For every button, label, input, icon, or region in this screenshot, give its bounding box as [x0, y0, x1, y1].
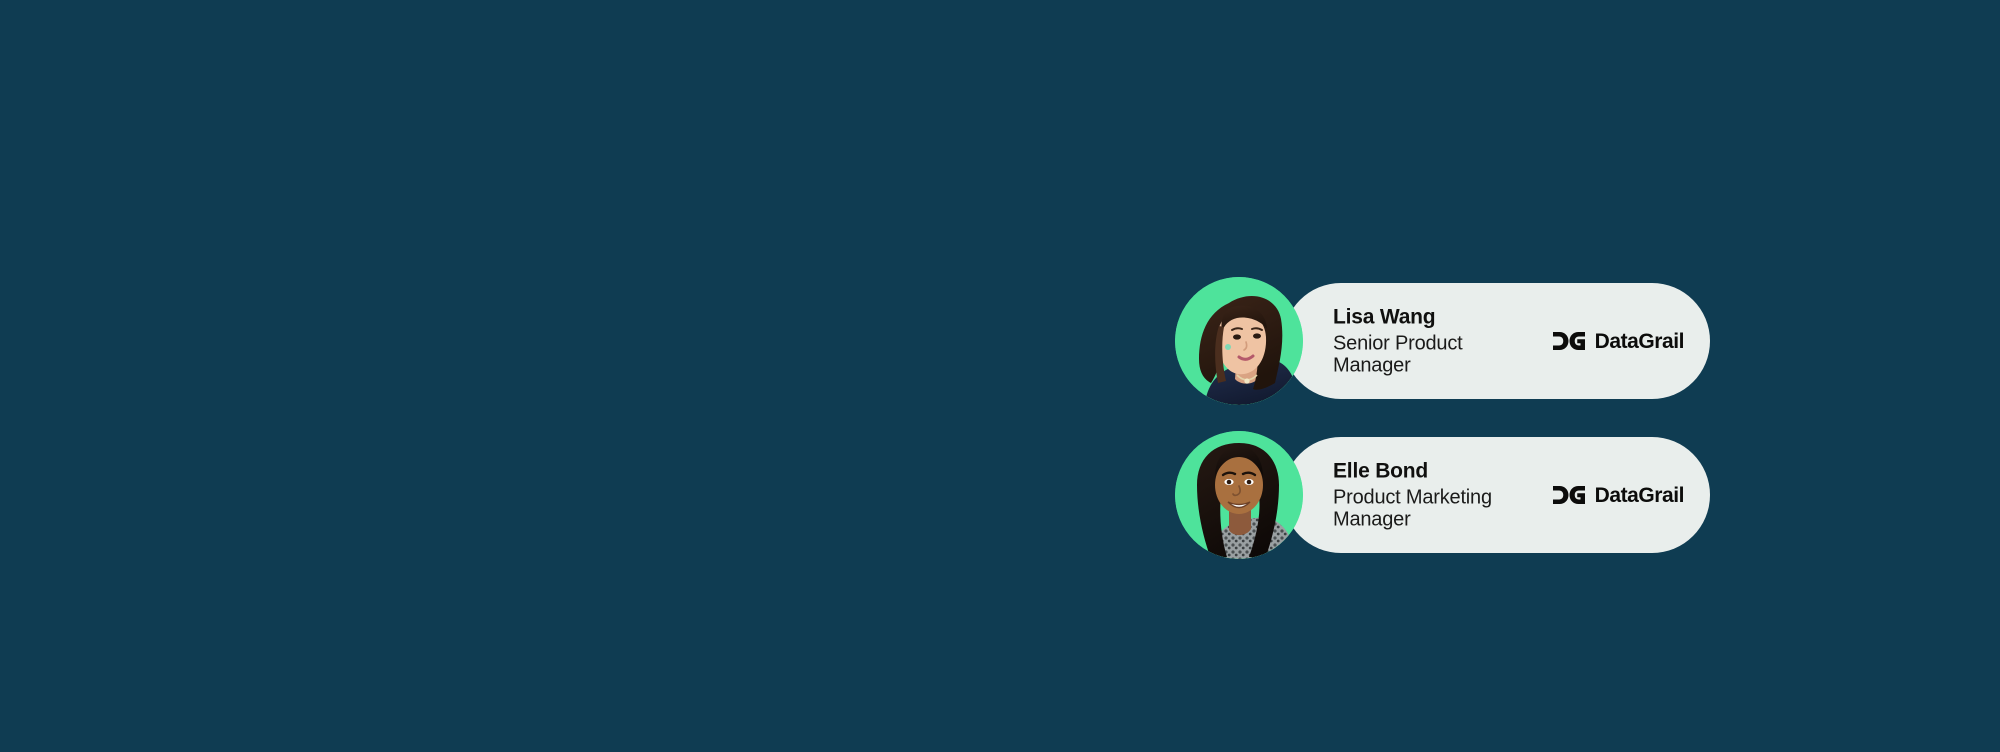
brand-logo: DataGrail [1552, 484, 1684, 506]
speaker-info: Lisa Wang Senior Product Manager [1333, 305, 1503, 376]
datagrail-bowtie-icon [1552, 330, 1586, 352]
speaker-card-panel: Elle Bond Product Marketing Manager Data… [1283, 437, 1710, 553]
speaker-card-panel: Lisa Wang Senior Product Manager DataGra… [1283, 283, 1710, 399]
brand-name: DataGrail [1595, 331, 1684, 352]
avatar [1175, 431, 1303, 559]
datagrail-bowtie-icon [1552, 484, 1586, 506]
brand-name: DataGrail [1595, 485, 1684, 506]
avatar [1175, 277, 1303, 405]
speaker-title: Product Marketing Manager [1333, 486, 1503, 531]
speaker-card-list: Lisa Wang Senior Product Manager DataGra… [1175, 277, 1735, 547]
brand-logo: DataGrail [1552, 330, 1684, 352]
speaker-name: Lisa Wang [1333, 305, 1503, 329]
speaker-card[interactable]: Elle Bond Product Marketing Manager Data… [1175, 431, 1735, 547]
speaker-name: Elle Bond [1333, 459, 1503, 483]
speaker-title: Senior Product Manager [1333, 332, 1503, 377]
speaker-card[interactable]: Lisa Wang Senior Product Manager DataGra… [1175, 277, 1735, 393]
slide-canvas: Lisa Wang Senior Product Manager DataGra… [0, 0, 2000, 752]
speaker-info: Elle Bond Product Marketing Manager [1333, 459, 1503, 530]
